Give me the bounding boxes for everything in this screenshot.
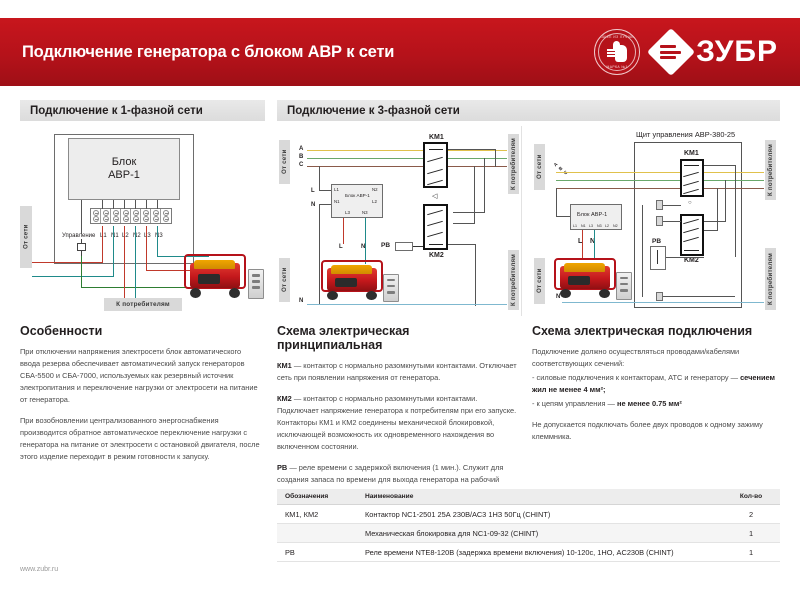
rv-body-2 (395, 242, 413, 251)
label-control-1: Управление (62, 233, 95, 239)
page-header: Подключение генератора с блоком АВР к се… (0, 18, 800, 86)
diagram-wiring: Щит управления АВР-380-25 От сети От сет… (532, 126, 780, 316)
zubr-logo: ЗУБР (654, 35, 778, 69)
parts-col-name: Наименование (357, 489, 722, 505)
label-to-consumers-3a: К потребителям (765, 140, 776, 200)
schematic-km2-text: — контактор с нормально разомкнутыми кон… (277, 394, 516, 451)
tap-label-n-2: N (311, 202, 315, 208)
bus-c-2 (307, 166, 507, 167)
bus-neutral-3 (562, 302, 764, 303)
terminal-label-l3: L3 (144, 233, 151, 239)
footer-url[interactable]: www.zubr.ru (20, 566, 58, 573)
wiring-paragraph-1: Подключение должно осуществляться провод… (532, 346, 780, 370)
avr3-term-l2: L2 (605, 224, 609, 228)
section-header-three-phase: Подключение к 3-фазной сети (277, 100, 780, 121)
label-from-grid-2a: От сети (279, 140, 290, 184)
km2-label-3: KM2 (684, 257, 699, 264)
parts-table: Обозначения Наименование Кол-во КМ1, КМ2… (277, 489, 780, 562)
features-paragraph-2: При возобновлении централизованного энер… (20, 415, 260, 463)
terminal-clamp-3a (656, 200, 663, 210)
terminal-strip-1 (90, 208, 172, 224)
label-from-grid-2b: От сети (279, 258, 290, 302)
wiring-p3-pre: - к цепям управления — (532, 399, 617, 408)
label-from-grid-1: От сети (20, 206, 32, 268)
km2-label-2: KM2 (429, 252, 444, 259)
bus-c-3 (556, 188, 764, 189)
row-1-name: Механическая блокировка для NC1-09-32 (C… (357, 524, 722, 543)
avr3-term-n2: N2 (613, 224, 618, 228)
wire-consumer-n (135, 226, 136, 298)
table-row: КМ1, КМ2 Контактор NC1-2501 25А 230В/АС3… (277, 505, 780, 524)
wire-gen-n (157, 226, 158, 257)
wire-gen-l (146, 226, 147, 271)
schematic-km1-label: КМ1 (277, 361, 292, 370)
rv-label-3: РВ (652, 238, 661, 245)
label-from-grid-3a: От сети (534, 144, 545, 190)
avr2-term-l1: L1 (334, 187, 339, 192)
section-label-one-phase: Подключение к 1-фазной сети (30, 105, 203, 117)
label-to-consumers-2a: К потребителям (508, 134, 519, 194)
features-paragraph-1: При отключении напряжения электросети бл… (20, 346, 260, 406)
brand-lockup: ЛУЧШЕЕ ИЗ ЛУЧШЕГО МАРКА №1 ЗУБР (594, 18, 778, 86)
terminal-clamp-3b (656, 216, 663, 226)
terminal-clamp-3c (656, 292, 663, 301)
rv-label-2: РВ (381, 242, 390, 249)
generator-illustration-3 (554, 256, 616, 300)
wiring-paragraph-2: - силовые подключения к контакторам, АТС… (532, 372, 780, 396)
row-0-name: Контактор NC1-2501 25А 230В/АС3 1НЗ 50Гц… (357, 505, 722, 524)
schematic-title: Схема электрическая принципиальная (277, 324, 517, 352)
avr-block-1: Блок АВР-1 (68, 138, 180, 200)
km1-label-3: KM1 (684, 150, 699, 157)
avr2-term-n2: N2 (372, 187, 378, 192)
interlock-symbol-2: ◁ (432, 192, 437, 200)
row-1-designation (277, 524, 357, 543)
bus-b-3 (556, 180, 764, 181)
brand-name: ЗУБР (696, 37, 778, 67)
generator-illustration-1 (184, 252, 246, 300)
table-row: РВ Реле времени NTE8-120В (задержка врем… (277, 543, 780, 562)
zubr-diamond-icon (647, 28, 695, 76)
parts-table-header-row: Обозначения Наименование Кол-во (277, 489, 780, 505)
features-title: Особенности (20, 324, 260, 338)
label-to-consumers-1: К потребителям (104, 298, 182, 311)
schematic-km2-label: КМ2 (277, 394, 292, 403)
schematic-km2-paragraph: КМ2 — контактор с нормально разомкнутыми… (277, 393, 517, 453)
wire-grid-n (32, 276, 113, 277)
fuse-lead-1 (81, 239, 82, 244)
generator-illustration-2 (321, 258, 383, 302)
avr3-term-l3: L3 (589, 224, 593, 228)
diagram-one-phase: От сети К потребителям Блок АВР-1 L1 N1 … (20, 126, 265, 316)
wiring-p2-pre: - силовые подключения к контакторам, АТС… (532, 373, 740, 382)
section-header-one-phase: Подключение к 1-фазной сети (20, 100, 265, 121)
page-title: Подключение генератора с блоком АВР к се… (22, 43, 394, 62)
schematic-column: Схема электрическая принципиальная КМ1 —… (277, 324, 517, 507)
avr-block-line2: АВР-1 (108, 169, 140, 182)
table-row: Механическая блокировка для NC1-09-32 (C… (277, 524, 780, 543)
phase-label-a-2: A (299, 146, 303, 152)
row-2-name: Реле времени NTE8-120В (задержка времени… (357, 543, 722, 562)
seal-bottom-text: МАРКА №1 (595, 65, 639, 69)
avr3-term-l1: L1 (573, 224, 577, 228)
bus-a-3 (556, 172, 764, 173)
control-panel-title-3: Щит управления АВР-380-25 (636, 130, 735, 139)
diagram-schematic: От сети От сети К потребителям К потреби… (277, 126, 522, 316)
row-0-designation: КМ1, КМ2 (277, 505, 357, 524)
km1-label-2: KM1 (429, 134, 444, 141)
wiring-p3-bold: не менее 0.75 мм² (617, 399, 682, 408)
row-0-qty: 2 (722, 505, 780, 524)
row-2-qty: 1 (722, 543, 780, 562)
interlock-symbol-3: ○ (688, 200, 692, 206)
terminal-label-l2: L2 (122, 233, 129, 239)
avr2-term-n3: N3 (362, 210, 368, 215)
phase-label-b-2: B (299, 154, 303, 160)
row-2-designation: РВ (277, 543, 357, 562)
label-from-grid-3b: От сети (534, 258, 545, 304)
seal-top-text: ЛУЧШЕЕ ИЗ ЛУЧШЕГО (595, 35, 639, 39)
schematic-km1-paragraph: КМ1 — контактор с нормально разомкнутыми… (277, 360, 517, 384)
bus-b-2 (307, 158, 507, 159)
avr2-term-l3: L3 (345, 210, 350, 215)
generator-control-box-2 (383, 274, 399, 302)
quality-seal-icon: ЛУЧШЕЕ ИЗ ЛУЧШЕГО МАРКА №1 (594, 29, 640, 75)
schematic-rv-label: РВ (277, 463, 287, 472)
avr-block-2-title: Блок АВР-1 (345, 193, 370, 198)
terminal-label-l1: L1 (100, 233, 107, 239)
generator-control-box-3 (616, 272, 632, 300)
avr-block-line1: Блок (112, 156, 137, 169)
bus-a-2 (307, 150, 507, 151)
phase-label-c-2: C (299, 162, 303, 168)
wiring-title: Схема электрическая подключения (532, 324, 780, 338)
avr2-term-n1: N1 (334, 199, 340, 204)
label-to-consumers-2b: К потребителям (508, 250, 519, 310)
rv-body-3 (650, 246, 666, 270)
wiring-paragraph-4: Не допускается подключать более двух про… (532, 419, 780, 443)
avr2-term-l2: L2 (372, 199, 377, 204)
row-1-qty: 1 (722, 524, 780, 543)
wiring-column: Схема электрическая подключения Подключе… (532, 324, 780, 452)
avr3-term-n3: N3 (597, 224, 602, 228)
wiring-paragraph-3: - к цепям управления — не менее 0.75 мм² (532, 398, 780, 410)
neutral-label-2: N (299, 298, 303, 304)
section-label-three-phase: Подключение к 3-фазной сети (287, 105, 460, 117)
thumbs-up-icon (607, 41, 627, 63)
generator-control-box-1 (248, 269, 264, 299)
label-to-consumers-3b: К потребителям (765, 248, 776, 310)
avr3-term-n1: N1 (581, 224, 586, 228)
avr-block-3-title: Блок АВР-1 (577, 212, 607, 218)
features-column: Особенности При отключении напряжения эл… (20, 324, 260, 472)
fuse-symbol-1 (77, 243, 86, 251)
gen-label-l-2: L (339, 244, 343, 250)
bus-neutral-2 (307, 304, 507, 305)
wire-control (81, 256, 82, 288)
parts-col-qty: Кол-во (722, 489, 780, 505)
tap-label-l-2: L (311, 188, 315, 194)
wire-consumer-l (124, 226, 125, 298)
schematic-km1-text: — контактор с нормально разомкнутыми кон… (277, 361, 517, 382)
parts-col-designation: Обозначения (277, 489, 357, 505)
wire-grid-l (32, 262, 102, 263)
